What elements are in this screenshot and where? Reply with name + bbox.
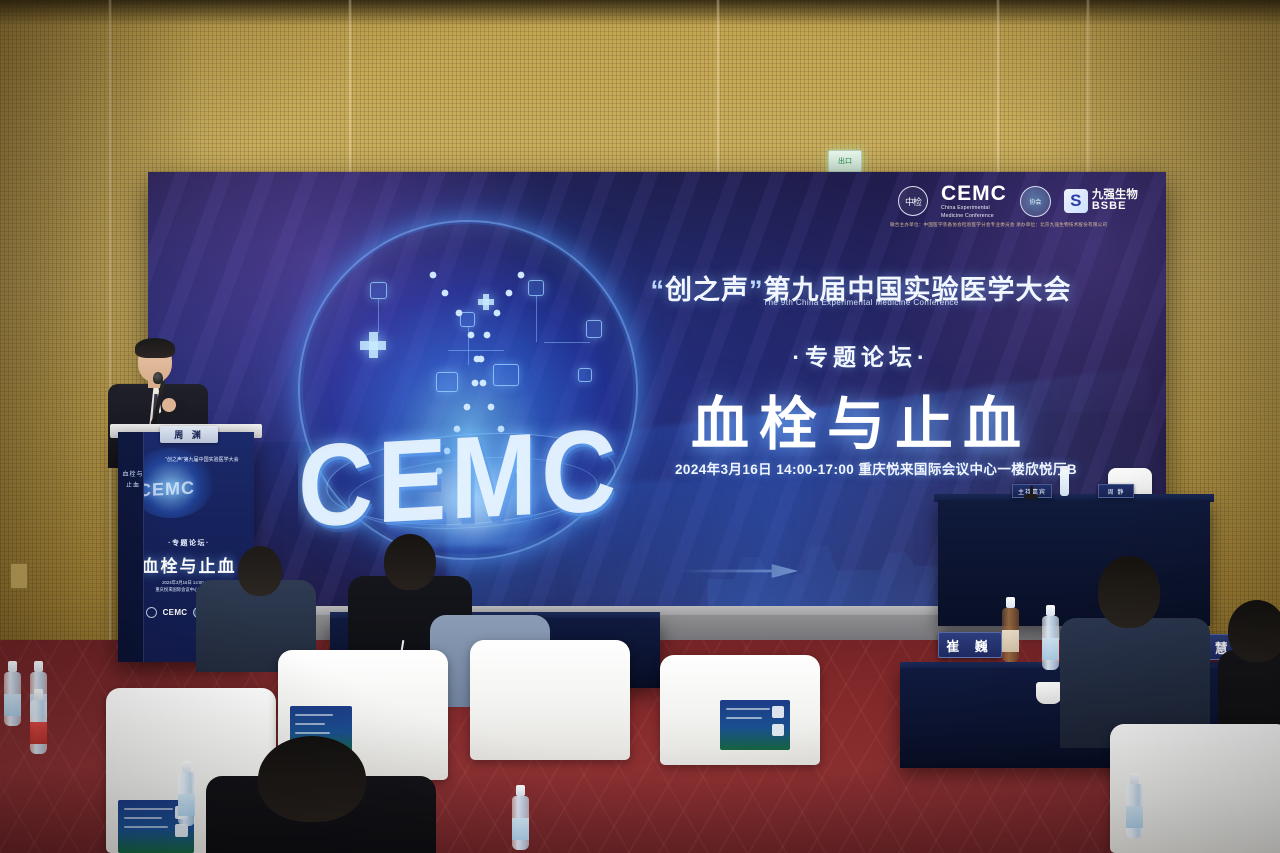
- bsbe-logo-en: BSBE: [1092, 201, 1138, 213]
- card-line: [295, 714, 333, 716]
- speaker-hair: [135, 338, 175, 358]
- paper-cup: [1036, 682, 1062, 704]
- card-line: [295, 732, 330, 734]
- association-logo-icon: 协会: [1020, 186, 1051, 217]
- exit-sign: 出口: [828, 150, 862, 172]
- tea-bottle: [1002, 608, 1019, 662]
- seal-logo-text: 中检: [905, 195, 921, 208]
- bottle-label: [1002, 630, 1019, 652]
- association-logo-text: 协会: [1029, 197, 1041, 206]
- podium-side-panel: [118, 432, 144, 662]
- bottle-label: [1042, 638, 1059, 660]
- water-bottle: [178, 772, 195, 826]
- audience-head: [258, 736, 366, 822]
- cemc-logo-sub-2: Medicine Conference: [941, 214, 1007, 219]
- dna-chip-icon: [370, 282, 387, 299]
- bottle-label: [512, 818, 529, 840]
- card-line: [295, 723, 325, 725]
- banner-datetime-venue: 2024年3月16日 14:00-17:00 重庆悦来国际会议中心一楼欣悦厅B: [576, 458, 1166, 478]
- cemc-logo: CEMC China Experimental Medicine Confere…: [941, 183, 1007, 218]
- speaker-hand: [162, 398, 176, 412]
- table-nameplate-cui-wei-label: 崔 巍: [946, 636, 994, 655]
- podium-cemc-wordmark: CEMC: [138, 476, 233, 502]
- bsbe-logo: S 九强生物 BSBE: [1064, 189, 1138, 213]
- card-line: [124, 826, 168, 828]
- audience-head: [1098, 556, 1160, 628]
- banner-forum-title: 血栓与止血: [576, 377, 1146, 461]
- podium-nameplate-label: 周 渊: [174, 428, 204, 441]
- card-qr-code: [772, 724, 784, 736]
- bottle-label: [178, 794, 195, 816]
- banner-conference-title-en: The 9th China Experimental Medicine Conf…: [576, 298, 1146, 307]
- connector-line: [378, 299, 379, 333]
- cemc-logo-main: CEMC: [941, 183, 1007, 204]
- test-tube-icon: [586, 320, 602, 338]
- bsbe-logo-mark: S: [1064, 189, 1088, 213]
- podium-side-text: 血栓与止血: [122, 470, 144, 492]
- banner-sponsor-line: 联合主办单位：中国医学装备协会检验医学分会专业委员会 承办单位：北京九强生物技术…: [890, 222, 1166, 228]
- table-nameplate-cui-wei: 崔 巍: [938, 632, 1002, 658]
- cemc-logo-sub-1: China Experimental: [941, 206, 1007, 211]
- podium-conference-title: “创之声”第九届中国实验医学大会: [152, 456, 252, 463]
- wall-outlet: [10, 563, 28, 589]
- seal-logo-icon: 中检: [898, 186, 928, 216]
- water-bottle: [30, 700, 47, 754]
- conference-hall-photo: 出口: [0, 0, 1280, 853]
- water-bottle: [1042, 616, 1059, 670]
- head-table-nameplate-guest-label: 周 静: [1108, 487, 1125, 496]
- card-line: [726, 708, 771, 710]
- water-bottle: [512, 796, 529, 850]
- podium-nameplate: 周 渊: [160, 426, 218, 443]
- medical-cross-icon: [360, 332, 386, 358]
- water-bottle: [1126, 784, 1143, 838]
- banner-forum-subtitle: ·专题论坛·: [576, 338, 1146, 372]
- audience-member: [1060, 556, 1210, 746]
- head-table-microphone-base: [1024, 494, 1038, 499]
- program-card: [720, 700, 790, 750]
- audience-chair: [470, 640, 630, 760]
- water-bottle: [4, 672, 21, 726]
- card-line: [124, 808, 173, 810]
- audience-head: [1228, 600, 1280, 662]
- podium-cemc-logo: CEMC: [163, 608, 188, 617]
- exit-sign-label: 出口: [838, 156, 852, 166]
- water-bottle: [1060, 470, 1069, 496]
- head-table-nameplate-guest: 周 静: [1098, 484, 1134, 498]
- podium-seal-logo-icon: [146, 607, 157, 618]
- bottle-label: [30, 722, 47, 744]
- bottle-label: [1126, 806, 1143, 828]
- audience-head: [238, 546, 282, 596]
- card-line: [124, 817, 162, 819]
- audience-member-foreground: [206, 736, 436, 853]
- banner-logo-row: 中检 CEMC China Experimental Medicine Conf…: [898, 180, 1148, 222]
- bottle-label: [4, 694, 21, 716]
- card-line: [726, 717, 762, 719]
- audience-head: [384, 534, 436, 590]
- card-qr-code: [772, 706, 784, 718]
